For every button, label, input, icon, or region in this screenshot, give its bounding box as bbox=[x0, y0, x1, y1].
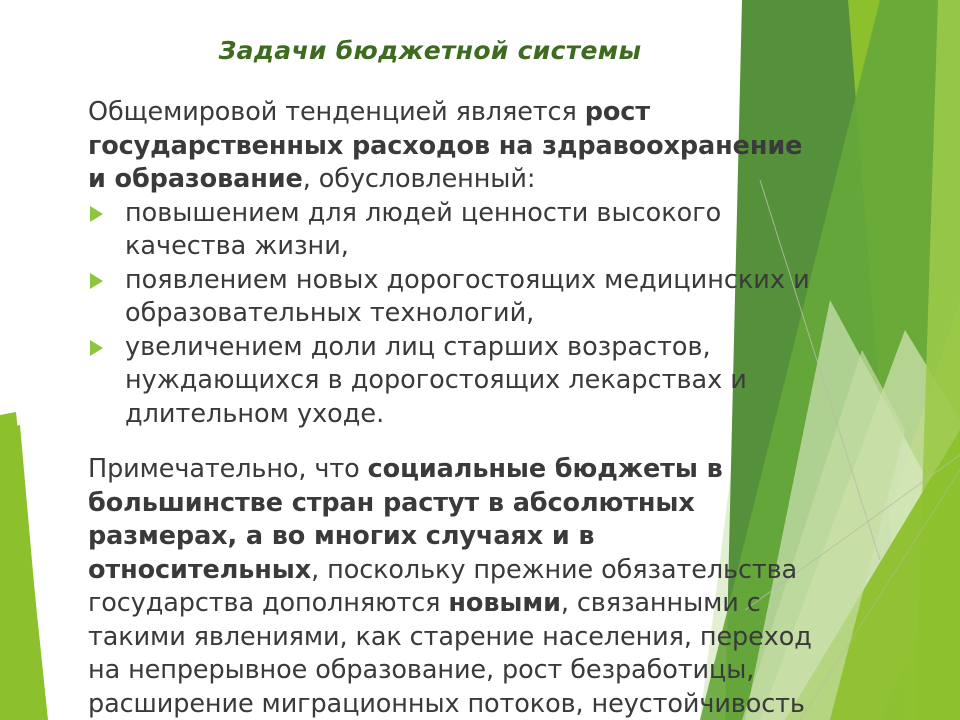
left-bright-wedge bbox=[0, 412, 48, 720]
bright-sliver-right bbox=[915, 0, 960, 720]
closing-run-1: Примечательно, что bbox=[88, 454, 368, 484]
list-item: увеличением доли лиц старших возрастов, … bbox=[88, 331, 815, 432]
triangle-right-bullet-icon bbox=[90, 340, 103, 356]
left-wedge-body bbox=[0, 425, 46, 720]
slide-body: Общемировой тенденцией является рост гос… bbox=[88, 96, 818, 720]
presentation-slide: Задачи бюджетной системы Общемировой тен… bbox=[0, 0, 960, 720]
page-title: Задачи бюджетной системы bbox=[0, 36, 860, 65]
list-item: появлением новых дорогостоящих медицинск… bbox=[88, 264, 815, 331]
bullet-list: повышением для людей ценности высокого к… bbox=[88, 197, 818, 432]
list-item-label: появлением новых дорогостоящих медицинск… bbox=[125, 265, 810, 329]
list-item-label: повышением для людей ценности высокого к… bbox=[125, 198, 721, 262]
hairline-diagonal bbox=[800, 470, 960, 720]
intro-run-1: Общемировой тенденцией является bbox=[88, 97, 585, 127]
closing-run-4-bold: новыми bbox=[448, 588, 560, 618]
closing-paragraph: Примечательно, что социальные бюджеты в … bbox=[88, 453, 818, 720]
bright-green-band bbox=[800, 0, 960, 720]
intro-run-3: , обусловленный: bbox=[303, 164, 536, 194]
list-item-label: увеличением доли лиц старших возрастов, … bbox=[125, 332, 747, 429]
list-item: повышением для людей ценности высокого к… bbox=[88, 197, 815, 264]
triangle-right-bullet-icon bbox=[90, 206, 103, 222]
intro-paragraph: Общемировой тенденцией является рост гос… bbox=[88, 96, 816, 197]
triangle-right-bullet-icon bbox=[90, 273, 103, 289]
